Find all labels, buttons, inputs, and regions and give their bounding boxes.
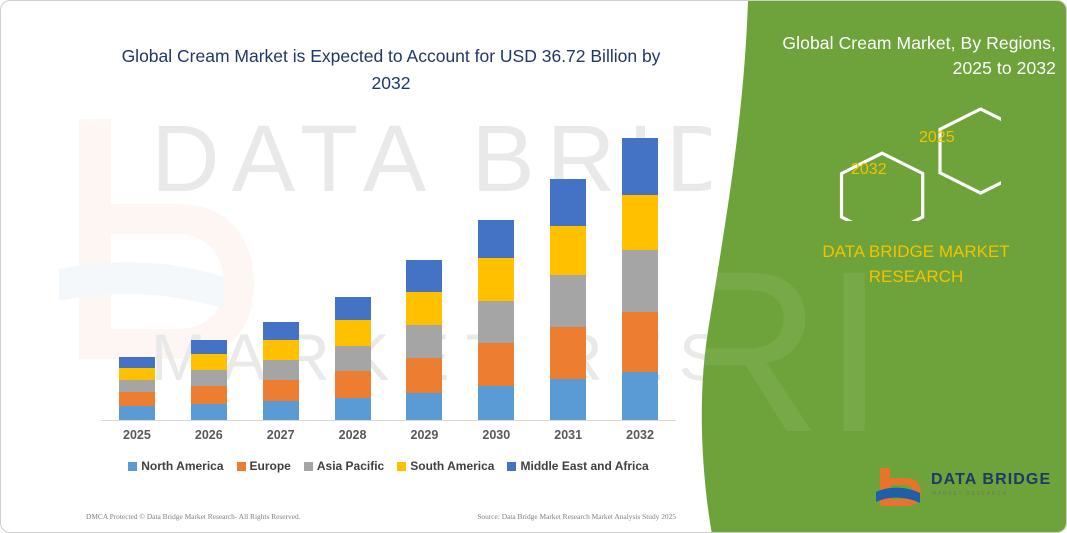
bar-segment: [119, 392, 155, 406]
bar-segment: [622, 138, 658, 195]
footer-copyright: DMCA Protected © Data Bridge Market Rese…: [86, 512, 301, 521]
bar-segment: [478, 343, 514, 386]
x-axis-tick-label: 2031: [550, 428, 586, 448]
bar-segment: [406, 260, 442, 292]
legend-item[interactable]: Middle East and Africa: [507, 459, 648, 473]
stacked-bar: [622, 138, 658, 420]
hexagon-label-2032: 2032: [851, 161, 887, 179]
x-axis-tick-label: 2025: [119, 428, 155, 448]
data-bridge-logo: DATA BRIDGE MARKET RESEARCH: [876, 466, 1051, 511]
legend-item[interactable]: South America: [397, 459, 494, 473]
bar-segment: [406, 292, 442, 325]
stacked-bar: [191, 340, 227, 420]
x-axis-tick-label: 2027: [263, 428, 299, 448]
stacked-bar: [119, 357, 155, 420]
x-axis-tick-label: 2026: [191, 428, 227, 448]
bar-segment: [622, 195, 658, 250]
hexagon-label-2025: 2025: [919, 129, 955, 147]
infographic-root: DATA BRIDGE MARKET RESEARCH Global Cream…: [0, 0, 1067, 533]
bar-segment: [550, 327, 586, 379]
legend-swatch-icon: [507, 462, 516, 471]
x-axis-tick-label: 2032: [622, 428, 658, 448]
legend-label: North America: [141, 459, 223, 473]
legend-swatch-icon: [304, 462, 313, 471]
legend-item[interactable]: Europe: [237, 459, 291, 473]
stacked-bar-series-group: [101, 121, 676, 420]
legend-item[interactable]: Asia Pacific: [304, 459, 384, 473]
bar-segment: [406, 393, 442, 420]
legend-swatch-icon: [128, 462, 137, 471]
bar-segment: [191, 404, 227, 420]
bar-segment: [335, 297, 371, 320]
x-axis-tick-labels: 20252026202720282029203020312032: [101, 428, 676, 448]
bar-segment: [335, 346, 371, 371]
bar-segment: [119, 380, 155, 392]
bar-segment: [622, 312, 658, 372]
bar-segment: [119, 368, 155, 380]
bar-segment: [191, 354, 227, 370]
x-axis-tick-label: 2029: [406, 428, 442, 448]
x-axis-tick-label: 2030: [478, 428, 514, 448]
legend-swatch-icon: [237, 462, 246, 471]
panel-title: Global Cream Market, By Regions, 2025 to…: [756, 31, 1056, 81]
bar-segment: [119, 406, 155, 420]
bar-segment: [550, 379, 586, 420]
bar-segment: [622, 250, 658, 312]
bar-segment: [550, 226, 586, 275]
x-axis-tick-label: 2028: [335, 428, 371, 448]
hexagon-outlines-icon: [821, 101, 1001, 221]
footer-source: Source: Data Bridge Market Research Mark…: [477, 512, 676, 521]
logo-tagline: MARKET RESEARCH: [932, 491, 1008, 497]
x-axis-line: [101, 420, 676, 421]
card-frame: DATA BRIDGE MARKET RESEARCH Global Cream…: [0, 0, 1067, 533]
bar-segment: [263, 401, 299, 420]
bar-segment: [622, 372, 658, 420]
bar-segment: [550, 179, 586, 226]
bar-segment: [263, 380, 299, 401]
bar-segment: [263, 360, 299, 380]
legend-item[interactable]: North America: [128, 459, 223, 473]
legend-label: Asia Pacific: [317, 459, 384, 473]
bar-segment: [406, 325, 442, 358]
logo-wordmark: DATA BRIDGE: [931, 471, 1051, 489]
bar-segment: [550, 275, 586, 327]
bar-segment: [478, 258, 514, 301]
stacked-bar: [263, 322, 299, 420]
hexagon-group: 2025 2032: [821, 101, 1001, 221]
legend-label: Middle East and Africa: [520, 459, 648, 473]
bar-segment: [191, 370, 227, 386]
data-bridge-mark-icon: [876, 466, 924, 510]
chart-legend: North AmericaEuropeAsia PacificSouth Ame…: [101, 457, 676, 475]
bar-segment: [263, 322, 299, 340]
bar-segment: [406, 358, 442, 393]
bar-segment: [263, 340, 299, 360]
bar-segment: [478, 301, 514, 343]
bar-segment: [478, 220, 514, 258]
stacked-bar: [478, 220, 514, 420]
legend-label: Europe: [250, 459, 291, 473]
bar-segment: [191, 340, 227, 354]
bar-segment: [119, 357, 155, 368]
bar-segment: [335, 371, 371, 398]
legend-label: South America: [410, 459, 494, 473]
bar-segment: [335, 398, 371, 420]
legend-swatch-icon: [397, 462, 406, 471]
panel-brand-line: DATA BRIDGE MARKET RESEARCH: [791, 239, 1041, 289]
bar-segment: [335, 320, 371, 346]
bar-segment: [191, 386, 227, 404]
stacked-bar: [550, 179, 586, 420]
stacked-bar: [335, 297, 371, 420]
bar-segment: [478, 386, 514, 420]
footer: DMCA Protected © Data Bridge Market Rese…: [86, 509, 676, 523]
stacked-bar: [406, 260, 442, 420]
page-title: Global Cream Market is Expected to Accou…: [106, 43, 676, 97]
